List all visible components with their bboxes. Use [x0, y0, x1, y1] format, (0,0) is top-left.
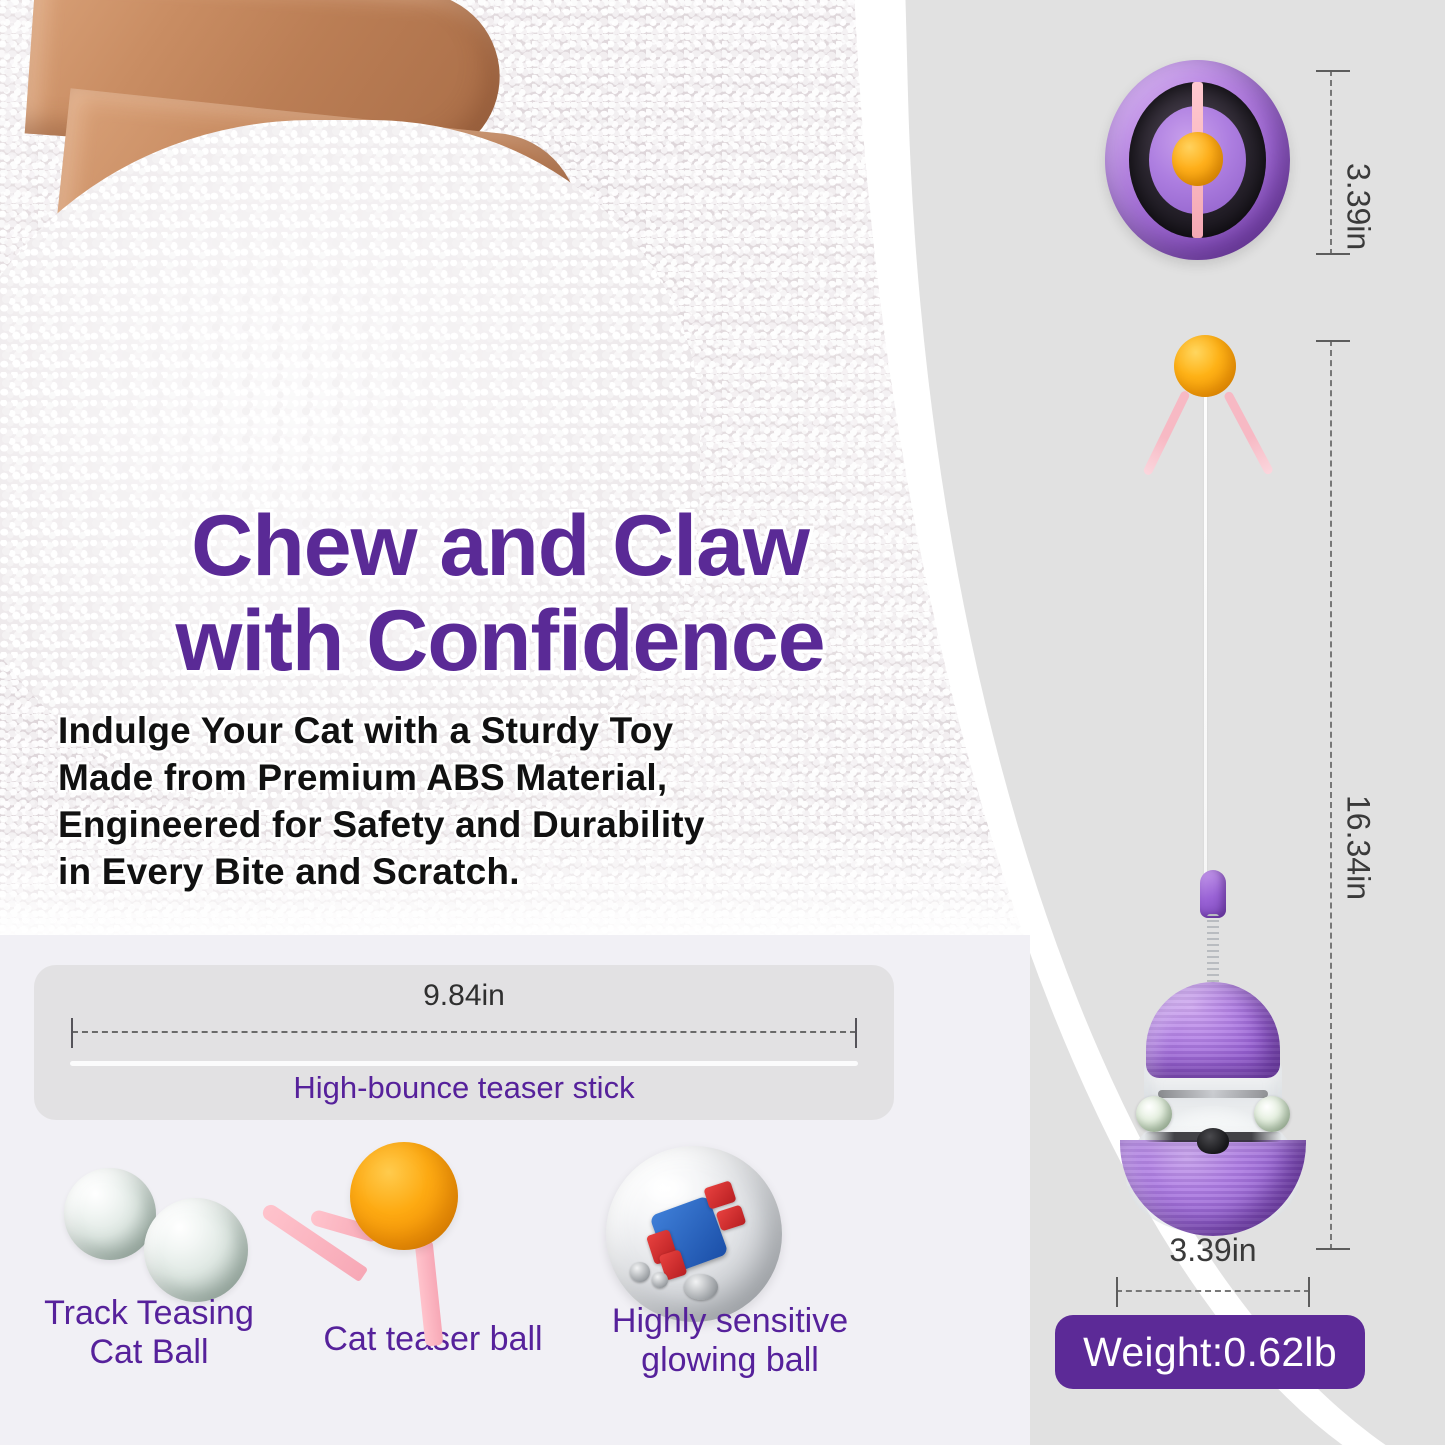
specular-highlight	[642, 1172, 694, 1206]
dimension-label-base: 3.39in	[1108, 1232, 1318, 1269]
item-cat-teaser-ball: Cat teaser ball	[272, 1122, 602, 1422]
stick-caption: High-bounce teaser stick	[34, 1070, 894, 1106]
dimension-line-vertical	[1330, 340, 1332, 1250]
toy-purple-dome	[1146, 982, 1280, 1078]
glowing-ball-left	[1136, 1096, 1172, 1132]
dimension-full-height: 16.34in	[1318, 340, 1438, 1250]
toy-top-cap	[1200, 870, 1226, 918]
item-label-line-2: Cat Ball	[4, 1333, 294, 1372]
orange-ball-icon	[1174, 335, 1236, 397]
item-glowing-ball: Highly sensitive glowing ball	[588, 1132, 888, 1432]
body-line-1: Indulge Your Cat with a Sturdy Toy	[58, 708, 1000, 755]
dimension-line-vertical	[1330, 70, 1332, 255]
glowing-ball-right	[1254, 1096, 1290, 1132]
headline-line-1: Chew and Claw	[191, 498, 809, 594]
marble-icon	[64, 1168, 156, 1260]
stick-dimension-label: 9.84in	[34, 979, 894, 1013]
headline-line-2: with Confidence	[0, 600, 1000, 683]
pink-ribbon	[1142, 390, 1190, 477]
lower-section: 9.84in High-bounce teaser stick Track Te…	[0, 935, 1030, 1445]
metal-part	[652, 1272, 668, 1288]
headline-block: Chew and Claw with Confidence Indulge Yo…	[0, 505, 1000, 896]
item-label-line-2: glowing ball	[580, 1341, 880, 1380]
red-component	[716, 1204, 747, 1231]
body-line-2: Made from Premium ABS Material,	[58, 755, 1000, 802]
metal-part	[684, 1274, 718, 1300]
product-items-row: Track Teasing Cat Ball Cat teaser ball	[0, 1140, 1030, 1445]
body-line-3: Engineered for Safety and Durability	[58, 802, 1000, 849]
dimension-top-height: 3.39in	[1318, 70, 1438, 255]
teaser-stick-card: 9.84in High-bounce teaser stick	[34, 965, 894, 1120]
body-line-4: in Every Bite and Scratch.	[58, 849, 1000, 896]
item-label-glow: Highly sensitive glowing ball	[580, 1302, 880, 1380]
toy-nose-detail	[1197, 1128, 1229, 1154]
stick-dimension-line	[72, 1031, 856, 1033]
dimension-line-horizontal	[1116, 1290, 1310, 1292]
wheel-orange-ball	[1172, 132, 1224, 186]
item-label-marbles: Track Teasing Cat Ball	[4, 1294, 294, 1372]
infographic-page: Chew and Claw with Confidence Indulge Yo…	[0, 0, 1445, 1445]
teaser-stick-graphic	[70, 1061, 858, 1066]
weight-text: Weight:0.62lb	[1083, 1329, 1337, 1376]
teaser-string	[1204, 395, 1207, 885]
red-component	[703, 1180, 736, 1210]
glowing-ball-icon	[606, 1146, 782, 1322]
page-title: Chew and Claw with Confidence	[0, 505, 1000, 682]
item-label-line-1: Track Teasing	[4, 1294, 294, 1333]
main-cat-toy-product	[1118, 870, 1308, 1235]
dimension-label-top: 3.39in	[1340, 163, 1377, 250]
weight-badge: Weight:0.62lb	[1055, 1315, 1365, 1389]
pink-ribbon	[1223, 390, 1274, 475]
teaser-ball-assembly	[1132, 335, 1272, 465]
spinning-wheel-product	[1105, 60, 1290, 260]
item-label-line-1: Highly sensitive	[580, 1302, 880, 1341]
dimension-base-width: 3.39in	[1108, 1232, 1318, 1302]
toy-purple-base	[1120, 1140, 1306, 1236]
body-copy: Indulge Your Cat with a Sturdy Toy Made …	[0, 708, 1000, 896]
metal-part	[630, 1262, 650, 1282]
dimension-label-full: 16.34in	[1340, 795, 1377, 900]
orange-ball-icon	[350, 1142, 458, 1250]
marble-icon	[144, 1198, 248, 1302]
